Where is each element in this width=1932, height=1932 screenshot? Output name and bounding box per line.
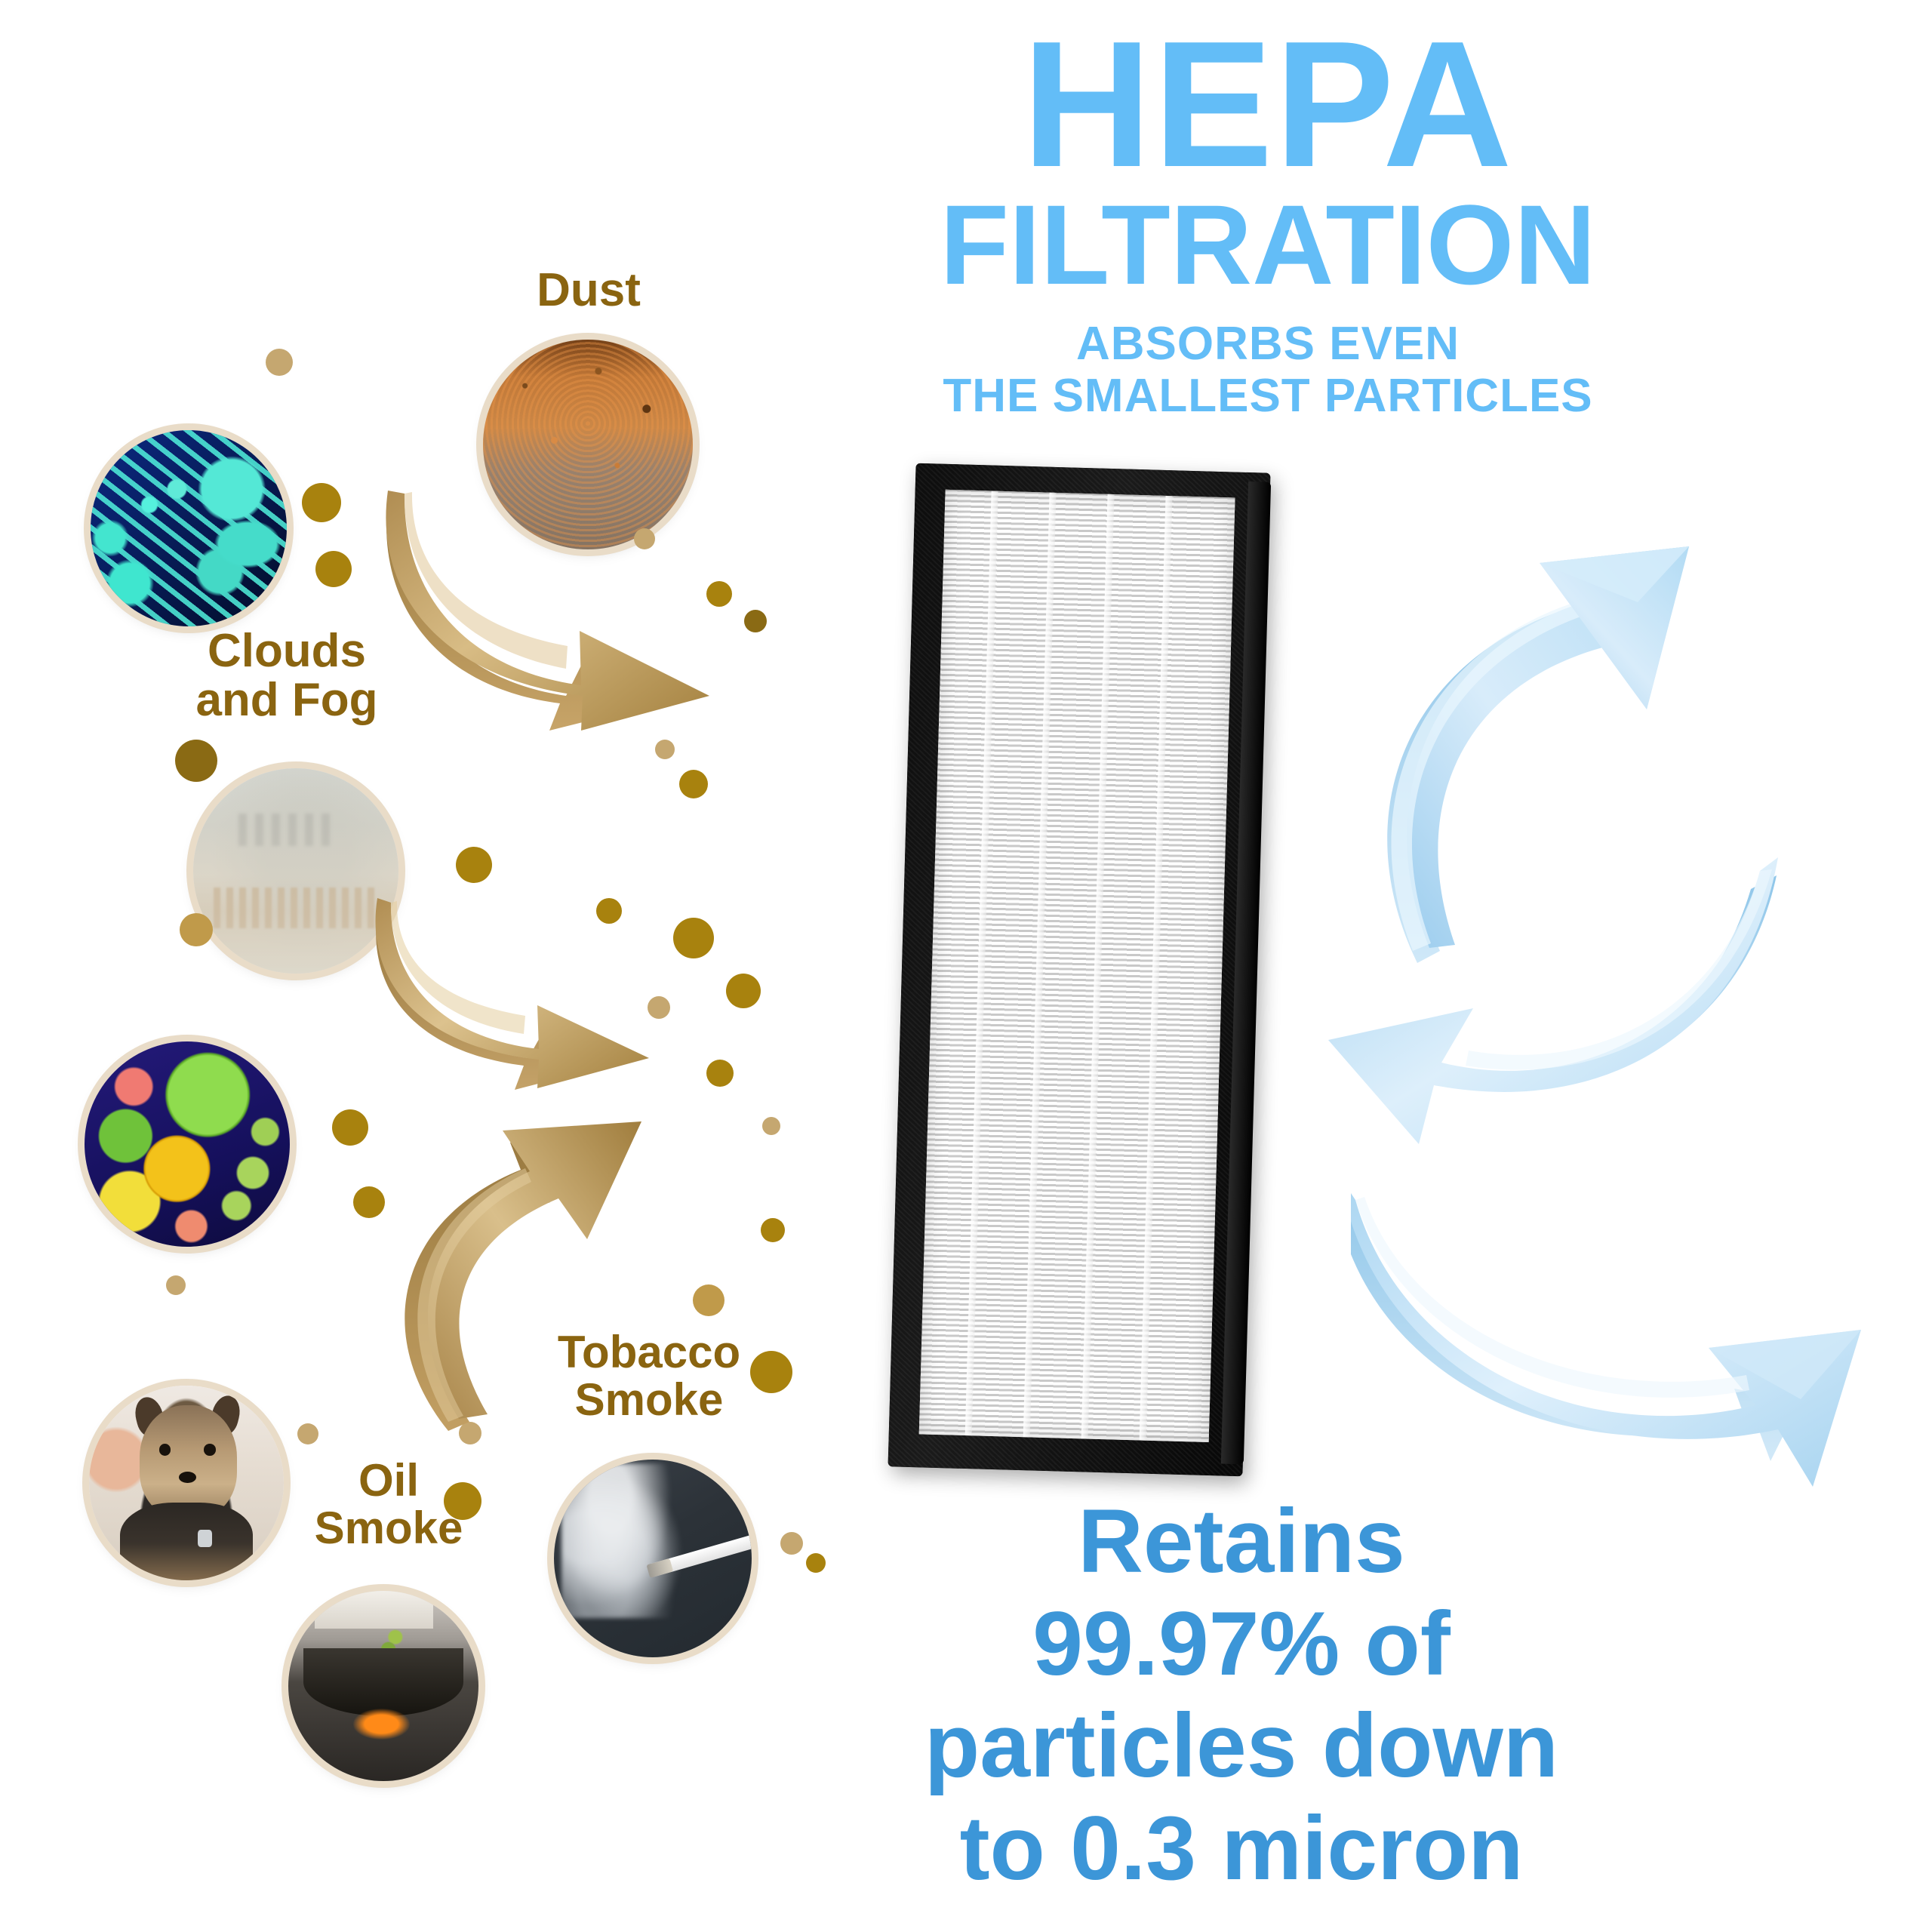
- particle-dot: [806, 1553, 826, 1573]
- label-dust: Dust: [475, 266, 702, 315]
- wok-chef: [315, 1591, 432, 1629]
- tagline-line-1: ABSORBS EVEN: [800, 318, 1736, 370]
- particle-dot: [456, 847, 492, 883]
- wok-flame: [353, 1709, 411, 1739]
- dog-collar-tag: [198, 1530, 211, 1547]
- pollutant-circle-oil-smoke: [288, 1591, 478, 1781]
- filter-media-seam: [1081, 494, 1115, 1439]
- filter-media-seam: [1139, 496, 1172, 1441]
- particle-dot: [302, 483, 341, 522]
- dirty-air-arrow-3: [370, 1087, 777, 1434]
- header-tagline: ABSORBS EVEN THE SMALLEST PARTICLES: [800, 318, 1736, 423]
- filter-pleated-media: [919, 490, 1235, 1442]
- clean-air-arrow-2: [1298, 853, 1781, 1155]
- filter-media-seam: [1023, 493, 1057, 1438]
- pollutant-circle-bacteria: [91, 430, 287, 626]
- particle-dot: [706, 1060, 734, 1087]
- particle-dot: [655, 740, 675, 759]
- particle-dot: [180, 913, 213, 946]
- claim-line-1: Retains: [853, 1491, 1630, 1593]
- dog-body: [120, 1503, 252, 1580]
- pollutant-circle-pollen: [85, 1041, 290, 1247]
- infographic-canvas: HEPA FILTRATION ABSORBS EVEN THE SMALLES…: [0, 0, 1932, 1932]
- wok-pan: [303, 1648, 463, 1717]
- particle-dot: [332, 1109, 368, 1146]
- pet-dander-dog-image: [89, 1386, 284, 1580]
- particle-dot: [679, 770, 708, 798]
- pollen-image: [85, 1041, 290, 1247]
- dog-eye-left: [159, 1444, 171, 1455]
- particle-dot: [315, 551, 352, 587]
- claim-line-2: 99.97% of: [853, 1593, 1630, 1696]
- tagline-line-2: THE SMALLEST PARTICLES: [800, 370, 1736, 422]
- pollutant-circle-tobacco-smoke: [554, 1460, 752, 1657]
- page-subtitle: FILTRATION: [800, 188, 1736, 301]
- dog-nose: [179, 1472, 196, 1483]
- page-title: HEPA: [800, 23, 1736, 188]
- particle-dot: [444, 1482, 481, 1520]
- particle-dot: [297, 1423, 318, 1444]
- oil-smoke-wok-image: [288, 1591, 478, 1781]
- dirty-air-arrow-2: [353, 898, 685, 1102]
- pollutant-circle-pet-dander: [89, 1386, 284, 1580]
- claim-line-4: to 0.3 micron: [853, 1798, 1630, 1900]
- particle-dot: [726, 974, 761, 1008]
- tobacco-smoke-image: [554, 1460, 752, 1657]
- dog-eye-right: [204, 1444, 215, 1455]
- claim-line-3: particles down: [853, 1695, 1630, 1798]
- particle-dot: [166, 1275, 186, 1295]
- dog-face: [140, 1405, 237, 1518]
- particle-dot: [266, 349, 293, 376]
- dirty-air-arrow-1: [355, 491, 747, 740]
- efficiency-claim: Retains 99.97% of particles down to 0.3 …: [853, 1491, 1630, 1900]
- particle-dot: [175, 740, 217, 782]
- bacteria-virus-image: [91, 430, 287, 626]
- particle-dot: [744, 610, 767, 632]
- hepa-filter-cartridge: [888, 463, 1271, 1477]
- filter-media-seam: [965, 491, 998, 1436]
- particle-dot: [780, 1532, 803, 1555]
- smoke-plume: [561, 1463, 684, 1617]
- header-block: HEPA FILTRATION ABSORBS EVEN THE SMALLES…: [800, 23, 1736, 423]
